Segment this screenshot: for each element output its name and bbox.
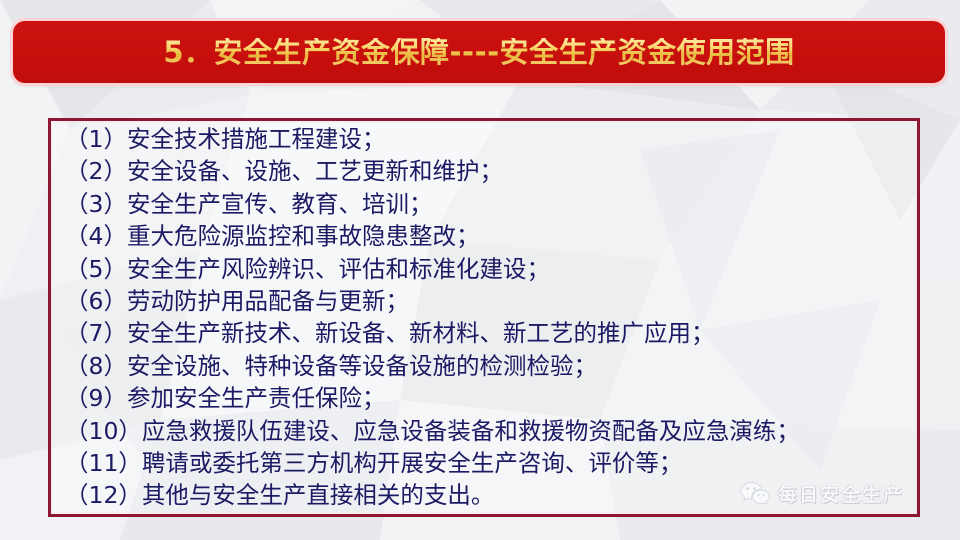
- list-item: （9）参加安全生产责任保险；: [65, 382, 911, 414]
- list-item: （3）安全生产宣传、教育、培训；: [65, 188, 911, 220]
- list-item: （6）劳动防护用品配备与更新；: [65, 285, 911, 317]
- list-item: （11）聘请或委托第三方机构开展安全生产咨询、评价等；: [65, 447, 911, 479]
- watermark-label: 每日安全生产: [778, 480, 904, 507]
- content-panel: （1）安全技术措施工程建设； （2）安全设备、设施、工艺更新和维护； （3）安全…: [48, 118, 920, 517]
- list-item: （2）安全设备、设施、工艺更新和维护；: [65, 155, 911, 187]
- slide-title-bar: 5．安全生产资金保障----安全生产资金使用范围: [13, 21, 945, 83]
- wechat-icon: [740, 481, 770, 507]
- list-item: （4）重大危险源监控和事故隐患整改；: [65, 220, 911, 252]
- slide-canvas: 5．安全生产资金保障----安全生产资金使用范围 （1）安全技术措施工程建设； …: [0, 0, 960, 540]
- list-item: （5）安全生产风险辨识、评估和标准化建设；: [65, 253, 911, 285]
- list-item: （7）安全生产新技术、新设备、新材料、新工艺的推广应用；: [65, 317, 911, 349]
- bullet-list: （1）安全技术措施工程建设； （2）安全设备、设施、工艺更新和维护； （3）安全…: [65, 123, 911, 512]
- list-item: （1）安全技术措施工程建设；: [65, 123, 911, 155]
- page-title: 5．安全生产资金保障----安全生产资金使用范围: [163, 38, 794, 67]
- list-item: （8）安全设施、特种设备等设备设施的检测检验；: [65, 350, 911, 382]
- watermark: 每日安全生产: [740, 480, 904, 507]
- list-item: （10）应急救援队伍建设、应急设备装备和救援物资配备及应急演练；: [65, 415, 911, 447]
